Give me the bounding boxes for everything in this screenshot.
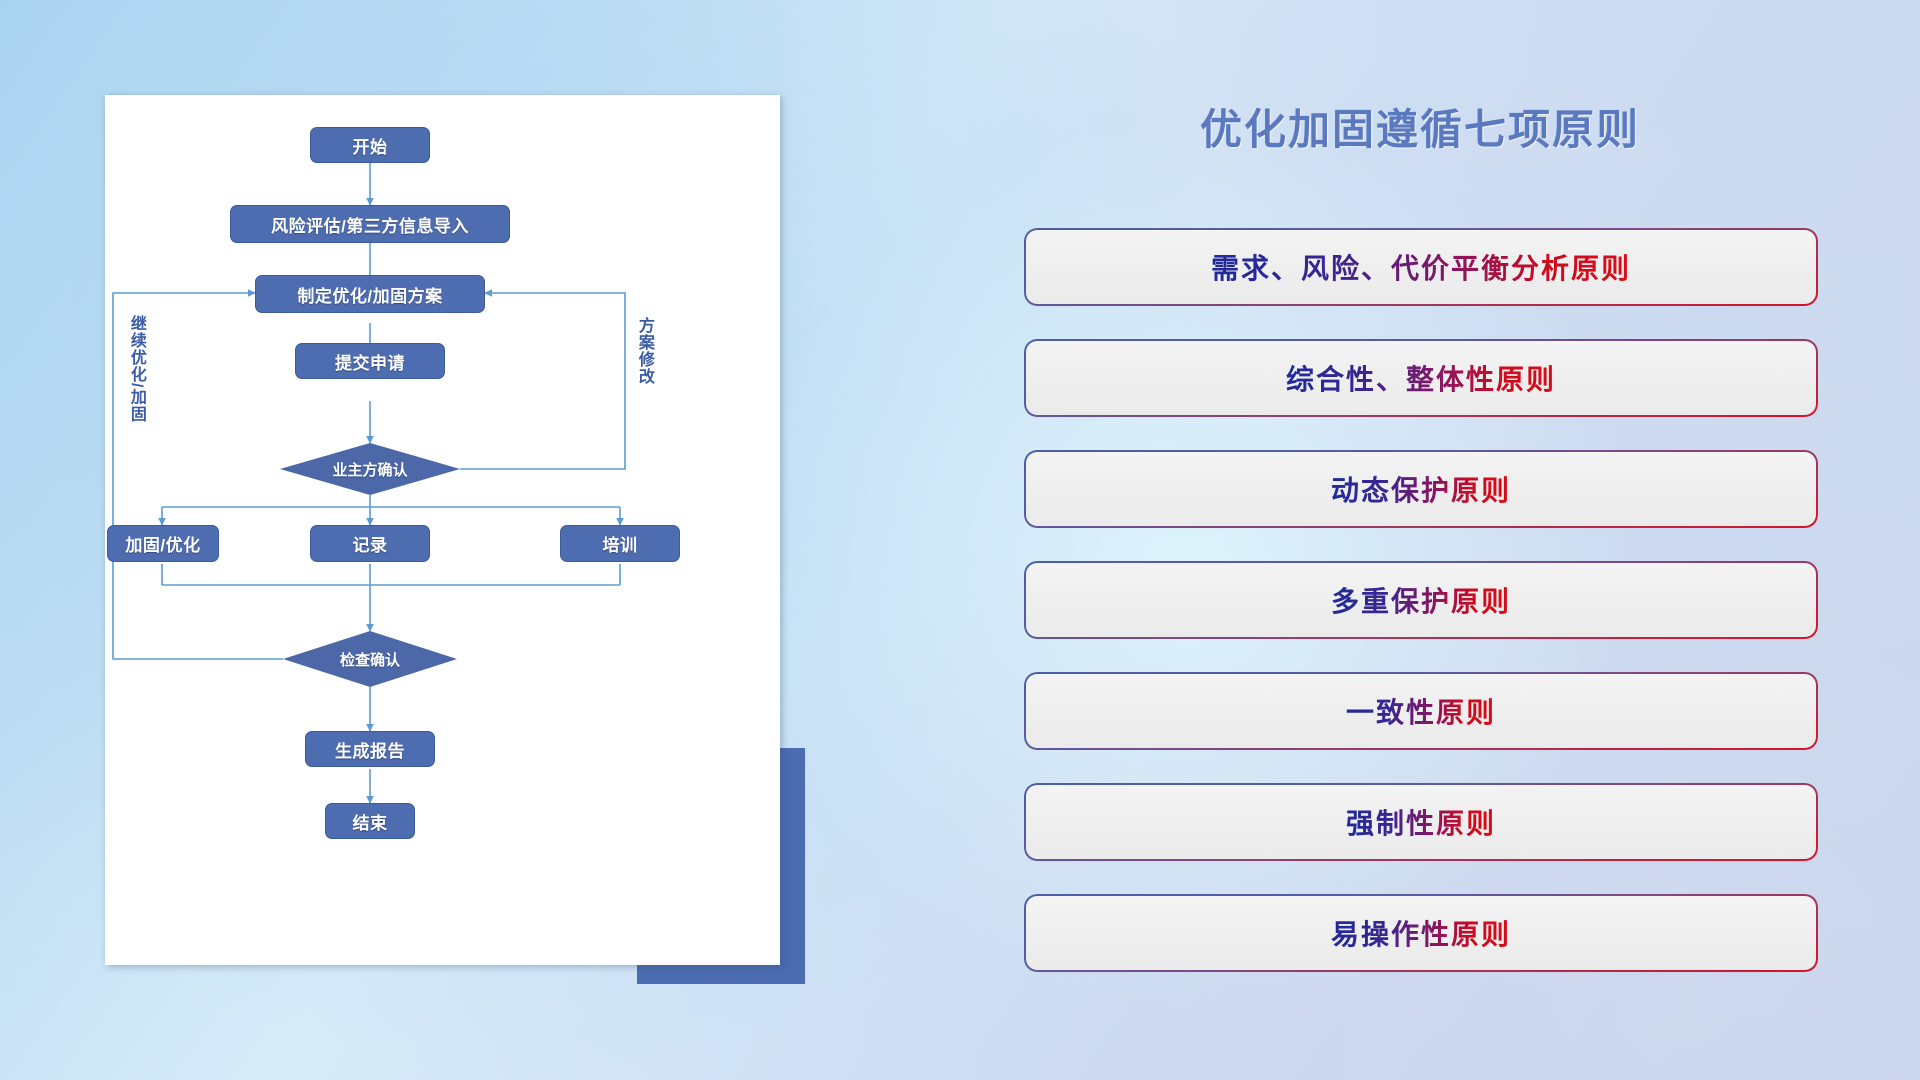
principles-list: 需求、风险、代价平衡分析原则 综合性、整体性原则 动态保护原则 多重保护原则 一… — [1026, 230, 1816, 1007]
flow-node-owner-confirm[interactable]: 业主方确认 — [280, 443, 460, 495]
flow-node-plan[interactable]: 制定优化/加固方案 — [255, 275, 485, 313]
flow-node-label: 培训 — [603, 531, 638, 556]
flow-node-label: 结束 — [353, 809, 388, 834]
flow-node-generate-report[interactable]: 生成报告 — [305, 731, 435, 767]
principle-card[interactable]: 易操作性原则 — [1026, 896, 1816, 970]
flow-node-reinforce[interactable]: 加固/优化 — [107, 525, 219, 562]
flow-node-label: 加固/优化 — [125, 531, 200, 556]
flow-node-start[interactable]: 开始 — [310, 127, 430, 163]
principle-label: 需求、风险、代价平衡分析原则 — [1211, 247, 1631, 287]
flow-node-check-confirm[interactable]: 检查确认 — [283, 631, 457, 687]
principle-card[interactable]: 动态保护原则 — [1026, 452, 1816, 526]
principle-label: 一致性原则 — [1346, 691, 1496, 731]
flow-node-risk-assessment[interactable]: 风险评估/第三方信息导入 — [230, 205, 510, 243]
edge-label-plan-revision: 方案修改 — [635, 317, 653, 385]
flow-node-training[interactable]: 培训 — [560, 525, 680, 562]
flow-node-submit-application[interactable]: 提交申请 — [295, 343, 445, 379]
principle-card[interactable]: 需求、风险、代价平衡分析原则 — [1026, 230, 1816, 304]
principle-label: 动态保护原则 — [1331, 469, 1511, 509]
flowchart-panel: 开始 风险评估/第三方信息导入 制定优化/加固方案 提交申请 业主方确认 加固/… — [105, 95, 780, 965]
flow-node-label: 制定优化/加固方案 — [297, 282, 442, 307]
flow-node-label: 风险评估/第三方信息导入 — [271, 212, 469, 237]
flow-node-end[interactable]: 结束 — [325, 803, 415, 839]
principle-card[interactable]: 一致性原则 — [1026, 674, 1816, 748]
principle-label: 易操作性原则 — [1331, 913, 1511, 953]
flow-node-label: 检查确认 — [340, 649, 400, 670]
principle-label: 综合性、整体性原则 — [1286, 358, 1556, 398]
principle-card[interactable]: 强制性原则 — [1026, 785, 1816, 859]
principle-card[interactable]: 综合性、整体性原则 — [1026, 341, 1816, 415]
flow-node-record[interactable]: 记录 — [310, 525, 430, 562]
flow-node-label: 生成报告 — [335, 737, 405, 762]
principle-label: 强制性原则 — [1346, 802, 1496, 842]
edge-label-continue-optimize: 继续优化/加固 — [127, 315, 145, 422]
slide-canvas: 开始 风险评估/第三方信息导入 制定优化/加固方案 提交申请 业主方确认 加固/… — [0, 0, 1920, 1080]
flow-node-label: 开始 — [353, 133, 388, 158]
flow-node-label: 记录 — [353, 531, 388, 556]
flow-node-label: 提交申请 — [335, 349, 405, 374]
flow-node-label: 业主方确认 — [332, 459, 407, 480]
principle-label: 多重保护原则 — [1331, 580, 1511, 620]
principle-card[interactable]: 多重保护原则 — [1026, 563, 1816, 637]
page-title: 优化加固遵循七项原则 — [1020, 96, 1820, 157]
